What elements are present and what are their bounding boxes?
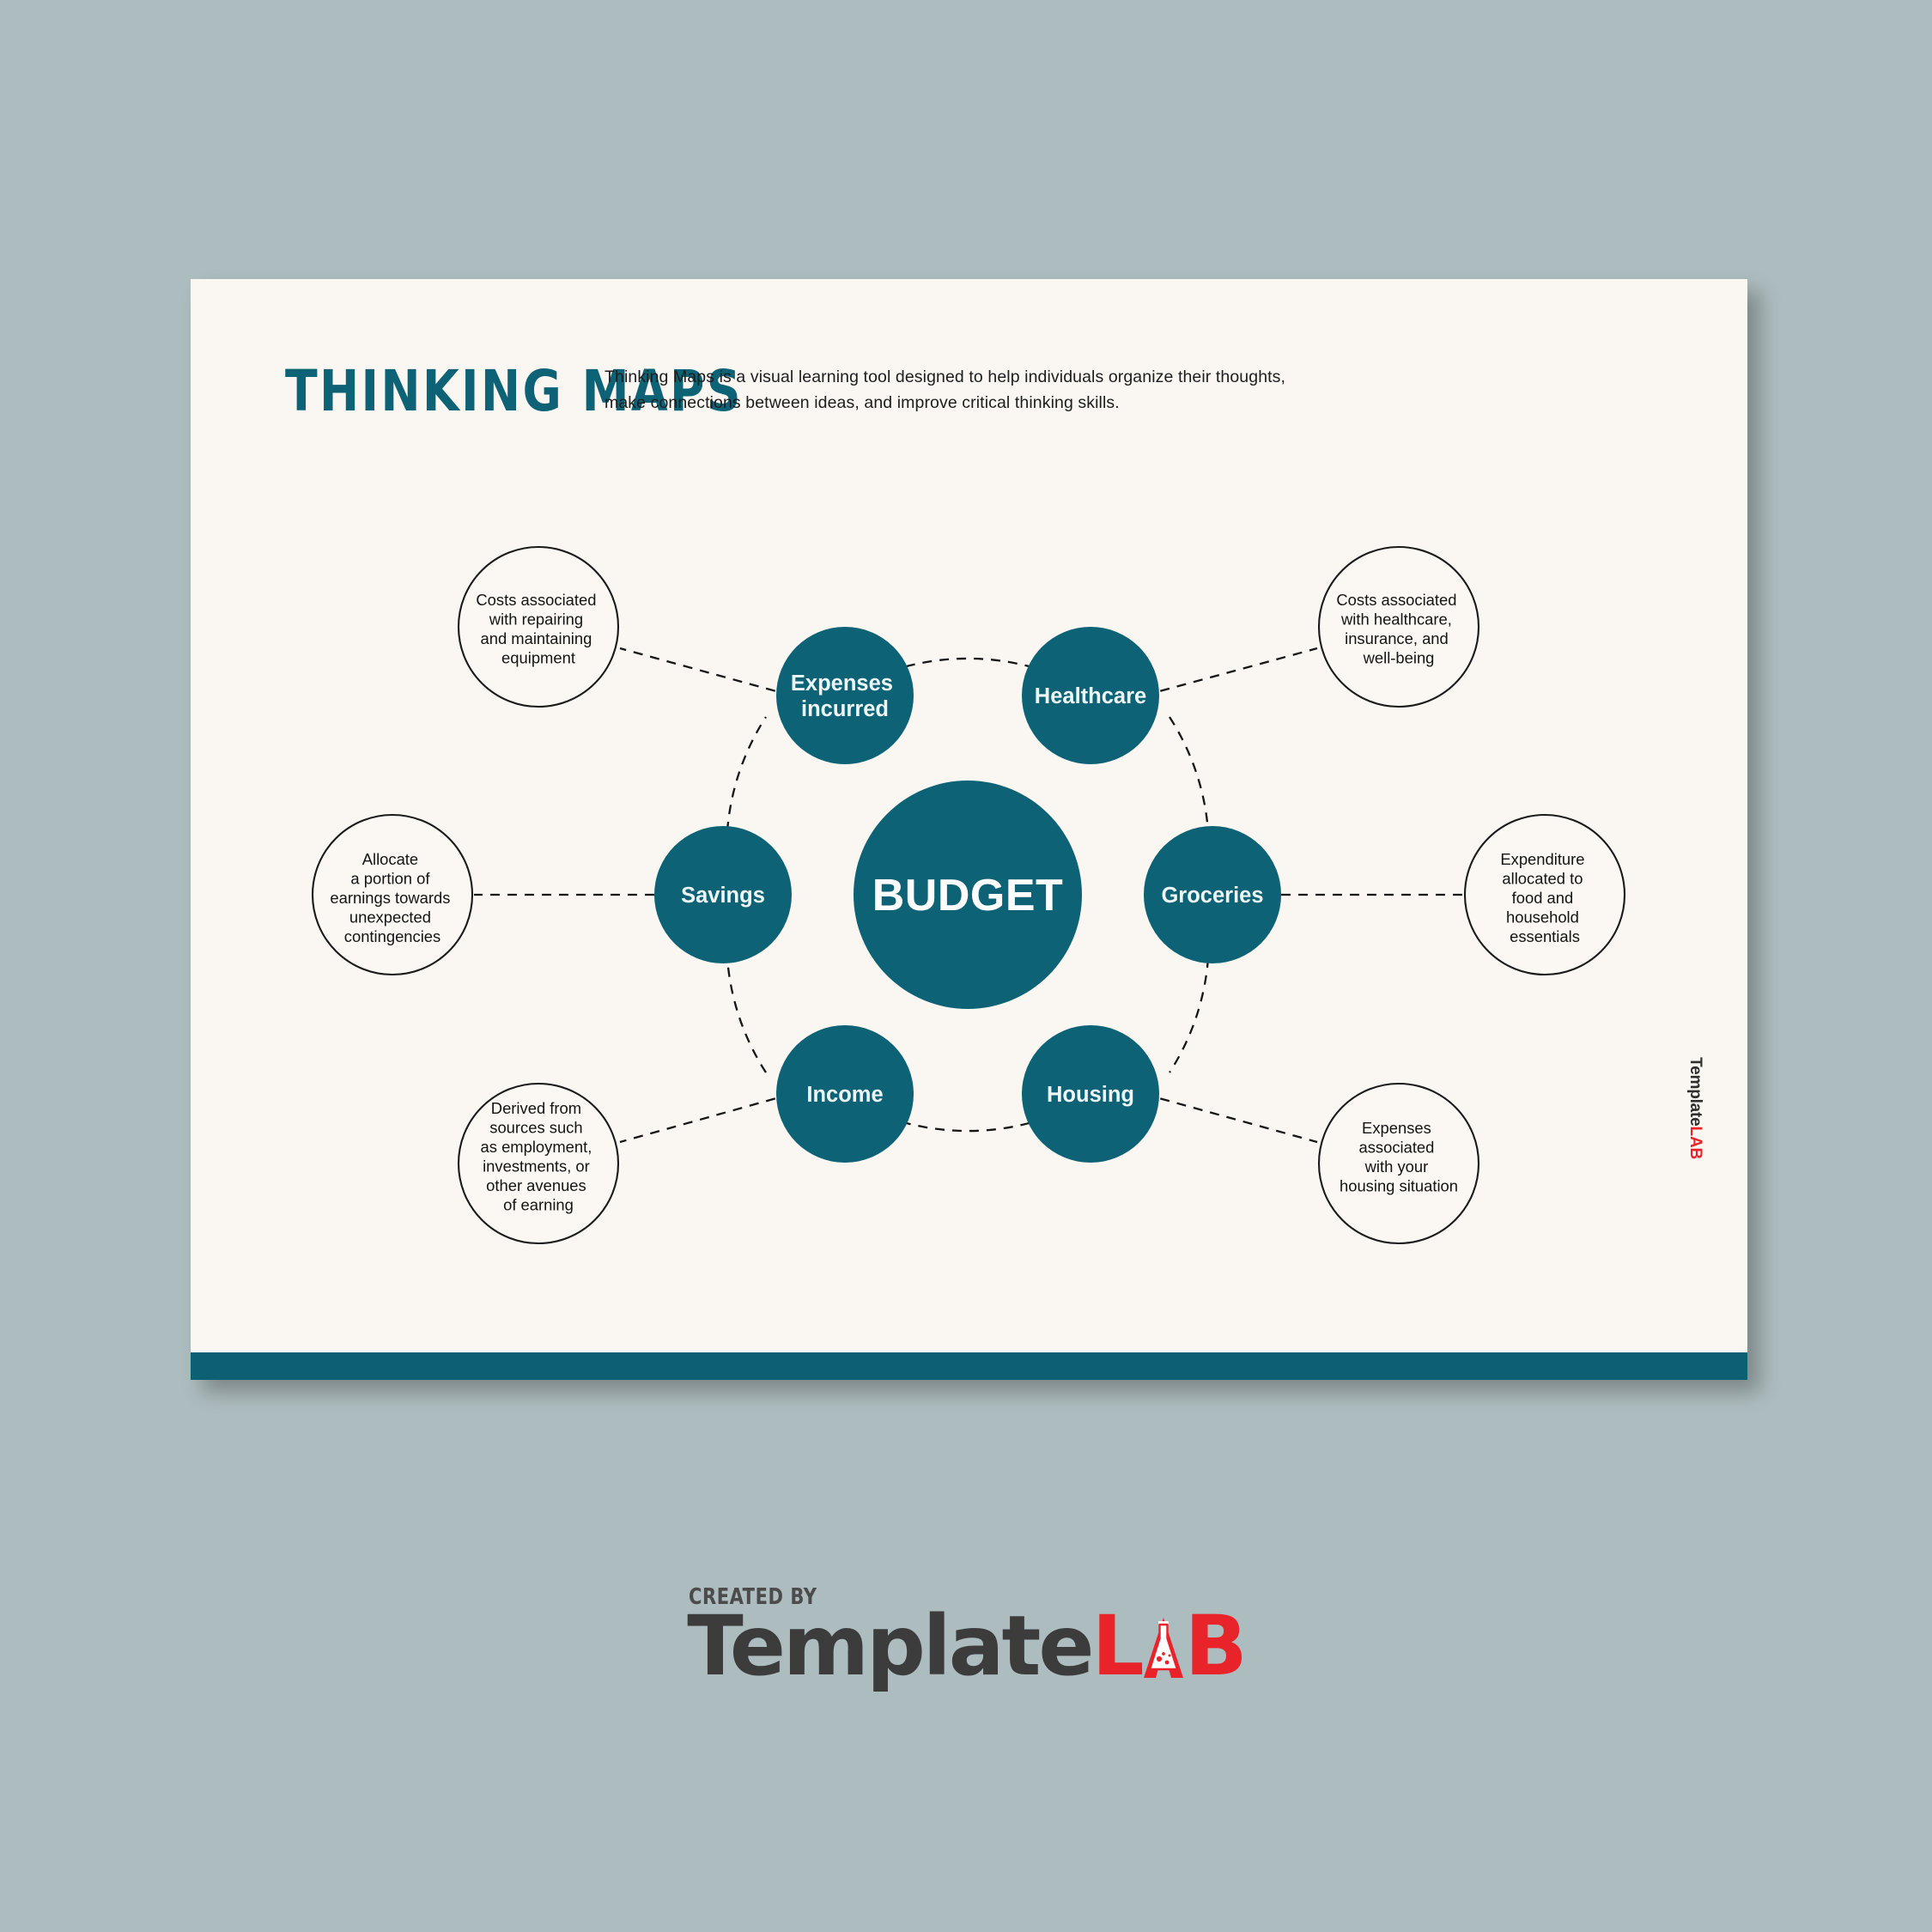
card-footer-bar xyxy=(191,1352,1747,1380)
connector-income-savings xyxy=(727,958,766,1072)
templatelab-logo: TemplateL B xyxy=(687,1603,1245,1690)
node-savings[interactable]: Savings xyxy=(654,826,792,963)
poster-card: THINKING MAPS Thinking Maps is a visual … xyxy=(191,279,1747,1380)
side-watermark-red: LAB xyxy=(1686,1127,1704,1159)
logo-template-text: Template xyxy=(687,1598,1091,1694)
flask-icon xyxy=(1139,1608,1188,1672)
side-watermark: TemplateLAB xyxy=(1686,1057,1704,1159)
satellite-healthcare[interactable]: Costs associated with healthcare, insura… xyxy=(1319,547,1479,707)
node-circle xyxy=(776,627,914,764)
node-label: Housing xyxy=(1047,1083,1134,1107)
node-healthcare[interactable]: Healthcare xyxy=(1022,627,1159,764)
spoke-income xyxy=(620,1094,792,1142)
side-watermark-dark: Template xyxy=(1686,1057,1704,1126)
node-label: Healthcare xyxy=(1035,684,1146,708)
node-label: Income xyxy=(806,1083,883,1107)
satellite-housing[interactable]: Expenses associated with your housing si… xyxy=(1319,1084,1479,1243)
spoke-expenses xyxy=(620,648,792,696)
node-income[interactable]: Income xyxy=(776,1025,914,1163)
spoke-healthcare xyxy=(1144,648,1317,696)
created-by-label: CREATED BY xyxy=(689,1584,1189,1610)
satellite-income[interactable]: Derived from sources such as employment,… xyxy=(459,1084,618,1243)
connector-healthcare-groceries xyxy=(1170,717,1208,831)
node-label: Groceries xyxy=(1161,884,1263,908)
connector-savings-expenses xyxy=(727,717,766,831)
logo-l-text: L xyxy=(1091,1598,1141,1694)
logo-b-text: B xyxy=(1185,1598,1245,1694)
node-expenses-incurred[interactable]: Expenses incurred xyxy=(776,627,914,764)
satellite-groceries[interactable]: Expenditure allocated to food and househ… xyxy=(1465,815,1625,975)
satellite-text: Expenditure allocated to food and househ… xyxy=(1500,850,1589,945)
credit-block: CREATED BY TemplateL B xyxy=(0,1584,1932,1690)
spoke-housing xyxy=(1144,1094,1317,1142)
node-groceries[interactable]: Groceries xyxy=(1144,826,1281,963)
node-budget-center[interactable]: BUDGET xyxy=(854,781,1082,1009)
satellite-savings[interactable]: Allocate a portion of earnings towards u… xyxy=(313,815,472,975)
center-label: BUDGET xyxy=(872,871,1064,920)
node-housing[interactable]: Housing xyxy=(1022,1025,1159,1163)
bubble-map-diagram: Costs associated with repairing and main… xyxy=(191,279,1747,1380)
connector-groceries-housing xyxy=(1170,958,1208,1072)
node-label: Savings xyxy=(681,884,765,908)
satellite-expenses[interactable]: Costs associated with repairing and main… xyxy=(459,547,618,707)
